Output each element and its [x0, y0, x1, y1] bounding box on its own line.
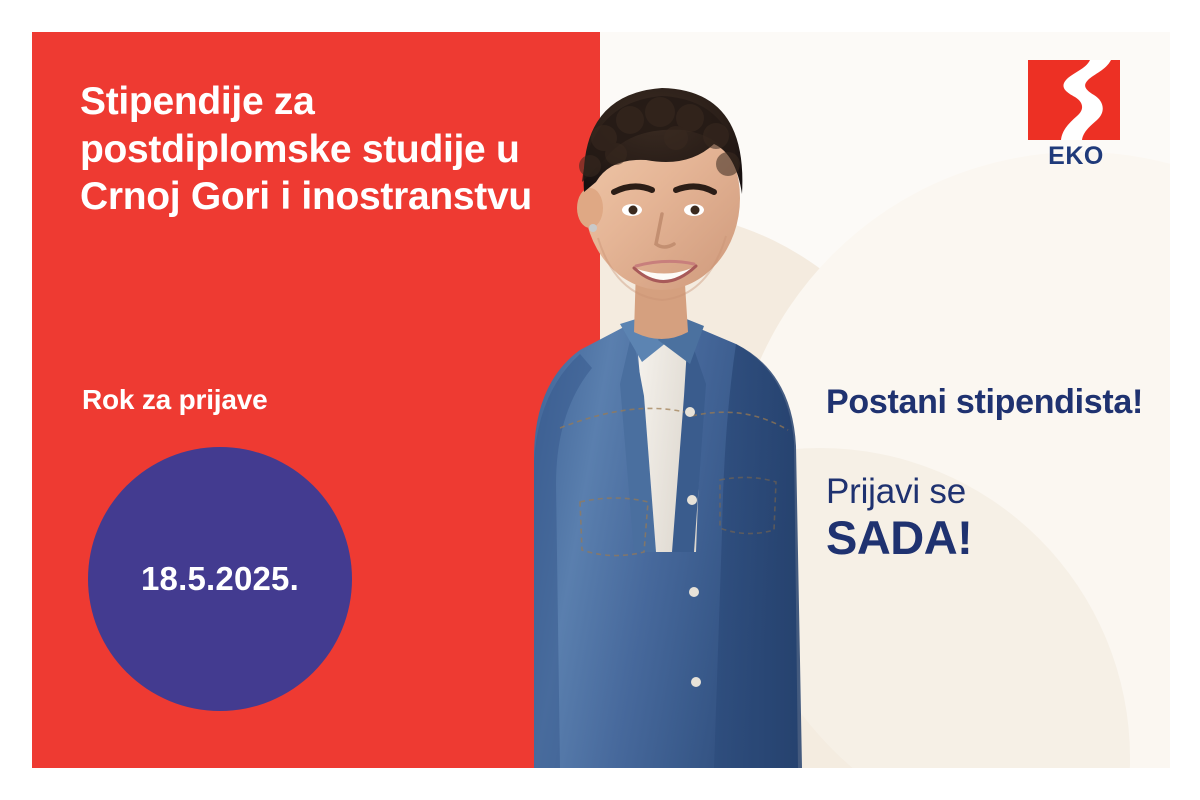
campaign-banner: Stipendije za postdiplomske studije u Cr…: [0, 0, 1200, 800]
page-title: Stipendije za postdiplomske studije u Cr…: [80, 78, 550, 221]
banner-canvas: Stipendije za postdiplomske studije u Cr…: [32, 32, 1170, 768]
eko-logo-wordmark: EKO: [1024, 144, 1128, 169]
deadline-date-badge: 18.5.2025.: [88, 447, 352, 711]
eko-logo[interactable]: EKO: [1024, 60, 1128, 169]
winding-road-icon: [1028, 60, 1120, 140]
cta-primary-text: Postani stipendista!: [826, 382, 1156, 423]
cta-block: Postani stipendista! Prijavi se SADA!: [826, 382, 1156, 564]
cta-secondary-text: Prijavi se: [826, 471, 1156, 512]
cta-shout-text: SADA!: [826, 513, 1156, 564]
deadline-date-value: 18.5.2025.: [141, 560, 299, 598]
deadline-label: Rok za prijave: [82, 384, 268, 416]
